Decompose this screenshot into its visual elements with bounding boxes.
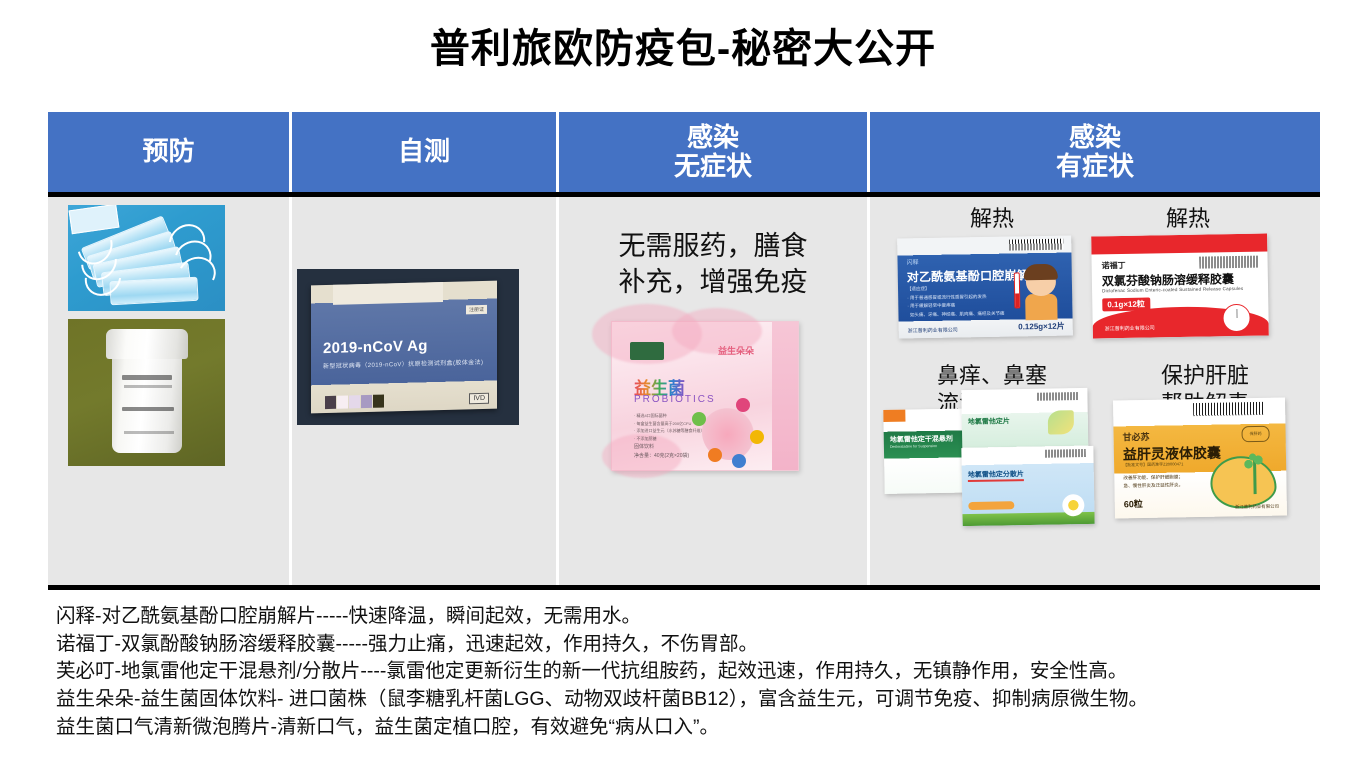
table-header-symptomatic-line2: 有症状	[1056, 152, 1134, 181]
label-antipyretic-right: 解热	[1128, 205, 1248, 233]
kit-reg-label: 注册证	[466, 305, 487, 315]
desloratadine-dispersible-box-photo: 地氯雷他定分散片	[961, 446, 1094, 526]
liver-capsule-brand: 甘必苏	[1123, 430, 1150, 443]
probiotics-box-photo: 益生朵朵 益生菌 PROBIOTICS · 精选4口国际菌种 · 每盒益生菌含量…	[611, 321, 799, 471]
cell-self-test: 注册证 2019-nCoV Ag 新型冠状病毒（2019-nCoV）抗原检测试剂…	[292, 197, 559, 585]
probiotics-brand-en: PROBIOTICS	[634, 394, 716, 405]
paracetamol-box-photo: 闪释 对乙酰氨基酚口腔崩解片 【适应症】 · 用于普通感冒或流行性感冒引起的发热…	[897, 235, 1073, 338]
bottle-brand-text	[122, 375, 172, 380]
table-header-self-test-label: 自测	[398, 137, 450, 166]
table-header-symptomatic: 感染 有症状	[870, 112, 1320, 192]
desloratadine-suspension-title-en: Desloratadine for Suspension	[890, 444, 937, 449]
gut-dot	[732, 454, 746, 468]
liver-capsule-manufacturer: 浙江普利药业有限公司	[1235, 504, 1279, 511]
kit-subtitle: 新型冠状病毒（2019-nCoV）抗原检测试剂盒(胶体金法)	[323, 357, 483, 370]
child-body	[1025, 294, 1057, 321]
surgical-masks-photo	[68, 205, 225, 311]
asymptomatic-advice-text: 无需服药，膳食 补充，增强免疫	[559, 229, 867, 300]
table-header-asymptomatic-line1: 感染	[674, 123, 752, 152]
liver-capsule-count: 60粒	[1124, 497, 1143, 510]
label-hepatoprotective-line1: 保护肝脏	[1110, 362, 1300, 390]
kit-color-chip	[349, 395, 360, 408]
barcode-icon	[1009, 239, 1063, 251]
bottle-body	[112, 345, 182, 453]
antigen-test-kit-box: 注册证 2019-nCoV Ag 新型冠状病毒（2019-nCoV）抗原检测试剂…	[311, 281, 497, 414]
kit-title: 2019-nCoV Ag	[323, 337, 428, 357]
comparison-table: 预防 自测 感染 无症状 感染 有症状	[48, 112, 1320, 590]
diclofenac-top-band	[1091, 233, 1267, 254]
label-antipyretic-left-text: 解热	[970, 206, 1014, 231]
cell-asymptomatic: 无需服药，膳食 补充，增强免疫 益生朵朵 益生菌 PROBIOTICS · 精选…	[559, 197, 870, 585]
bottle-cap	[106, 329, 188, 359]
paracetamol-indication: 【适应症】 · 用于普通感冒或流行性感冒引起的发热 · 用于缓解轻至中度疼痛 如…	[907, 284, 1005, 320]
note-line: 闪释-对乙酰氨基酚口腔崩解片-----快速降温，瞬间起效，无需用水。	[56, 603, 1356, 631]
liver-capsule-seal: 保肝药	[1241, 426, 1269, 442]
gut-dot	[750, 430, 764, 444]
mask-fan-group	[82, 227, 214, 305]
asymptomatic-advice-line1: 无需服药，膳食	[559, 229, 867, 265]
note-line: 益生菌口气清新微泡腾片-清新口气，益生菌定植口腔，有效避免“病从口入”。	[56, 714, 1356, 742]
probiotics-box-side-panel	[772, 322, 798, 470]
kit-box-flap	[333, 282, 443, 305]
table-header-symptomatic-line1: 感染	[1056, 123, 1134, 152]
kit-color-chip	[337, 395, 348, 408]
diclofenac-box-photo: 诺福丁 双氯芬酸钠肠溶缓释胶囊 Diclofenac Sodium Enteri…	[1091, 233, 1269, 338]
label-antipyretic-left: 解热	[932, 205, 1052, 233]
diclofenac-brand: 诺福丁	[1102, 260, 1126, 271]
dispersible-highlight-bar	[968, 501, 1014, 510]
label-antihistamine-line1: 鼻痒、鼻塞	[892, 362, 1092, 390]
table-header-asymptomatic-line2: 无症状	[674, 152, 752, 181]
kit-ivd-badge: IVD	[469, 393, 489, 405]
liver-capsule-desc: 改善肝功能、保护肝细胞膜； 急、慢性肝炎及迁延性肝炎。	[1123, 473, 1183, 491]
child-hair	[1024, 264, 1058, 281]
mouth-freshener-bottle-photo	[68, 319, 225, 466]
liver-capsule-reg: 【批准文号】国药准字Z20000471	[1123, 461, 1183, 468]
bottle-brand-en-text	[124, 385, 172, 388]
gut-illustration	[702, 404, 758, 460]
table-header-prevention: 预防	[48, 112, 292, 192]
title-underline	[968, 479, 1024, 482]
cell-symptomatic: 解热 解热 闪释 对乙酰氨基酚口腔崩解片 【适应症】 · 用于普通感冒或流行性感…	[870, 197, 1320, 585]
desloratadine-tablet-title: 地氯雷他定片	[968, 416, 1010, 427]
antigen-test-kit-photo: 注册证 2019-nCoV Ag 新型冠状病毒（2019-nCoV）抗原检测试剂…	[297, 269, 519, 425]
note-line: 诺福丁-双氯酚酸钠肠溶缓释胶囊-----强力止痛，迅速起效，作用持久，不伤胃部。	[56, 631, 1356, 659]
company-logo	[630, 342, 664, 360]
leaf-graphic	[1048, 410, 1074, 434]
gut-dot	[736, 398, 750, 412]
desloratadine-suspension-title: 地氯雷他定干混悬剂	[890, 434, 953, 445]
child-illustration	[1020, 262, 1065, 321]
gut-dot	[692, 412, 706, 426]
gut-dot	[708, 448, 722, 462]
barcode-icon	[1045, 449, 1085, 458]
table-header-row: 预防 自测 感染 无症状 感染 有症状	[48, 112, 1320, 197]
product-notes: 闪释-对乙酰氨基酚口腔崩解片-----快速降温，瞬间起效，无需用水。 诺福丁-双…	[56, 603, 1356, 741]
diclofenac-manufacturer: 浙江普利药业有限公司	[1105, 324, 1155, 332]
label-antipyretic-right-text: 解热	[1166, 206, 1210, 231]
paracetamol-brand: 闪释	[906, 257, 918, 266]
barcode-icon	[1037, 392, 1079, 401]
liver-capsule-box-photo: 甘必苏 保肝药 益肝灵液体胶囊 【批准文号】国药准字Z20000471 改善肝功…	[1113, 398, 1287, 519]
kit-color-chip	[373, 395, 384, 408]
box-accent-corner	[883, 410, 905, 422]
probiotics-sub-brand: 益生朵朵	[718, 344, 754, 357]
slide-root: 普利旅欧防疫包-秘密大公开 预防 自测 感染 无症状 感染 有症状	[0, 0, 1366, 768]
paracetamol-manufacturer: 浙江普利药业有限公司	[908, 326, 958, 334]
table-header-asymptomatic: 感染 无症状	[559, 112, 870, 192]
kit-color-chip	[361, 395, 372, 408]
thermometer-icon	[1014, 272, 1021, 308]
note-line: 芙必叮-地氯雷他定干混悬剂/分散片----氯雷他定更新衍生的新一代抗组胺药，起效…	[56, 658, 1356, 686]
barcode-icon	[1193, 402, 1263, 416]
barcode-icon	[1199, 256, 1257, 269]
paracetamol-dose: 0.125g×12片	[1018, 321, 1065, 333]
bottle-usage-text	[124, 431, 174, 434]
note-line: 益生朵朵-益生菌固体饮料- 进口菌株（鼠李糖乳杆菌LGG、动物双歧杆菌BB12）…	[56, 686, 1356, 714]
table-header-self-test: 自测	[292, 112, 559, 192]
table-body-row: 注册证 2019-nCoV Ag 新型冠状病毒（2019-nCoV）抗原检测试剂…	[48, 197, 1320, 590]
tree-canopy-graphic	[1240, 452, 1268, 472]
kit-color-chip	[325, 396, 336, 409]
cell-prevention	[48, 197, 292, 585]
probiotics-footer: 固体饮料 净含量：40克(2克×20袋)	[634, 443, 689, 460]
asymptomatic-advice-line2: 补充，增强免疫	[559, 265, 867, 301]
bottle-product-text	[122, 407, 174, 411]
table-header-prevention-label: 预防	[142, 137, 194, 166]
page-title: 普利旅欧防疫包-秘密大公开	[0, 16, 1366, 74]
diclofenac-title-en: Diclofenac Sodium Enteric-coated Sustain…	[1102, 286, 1243, 293]
